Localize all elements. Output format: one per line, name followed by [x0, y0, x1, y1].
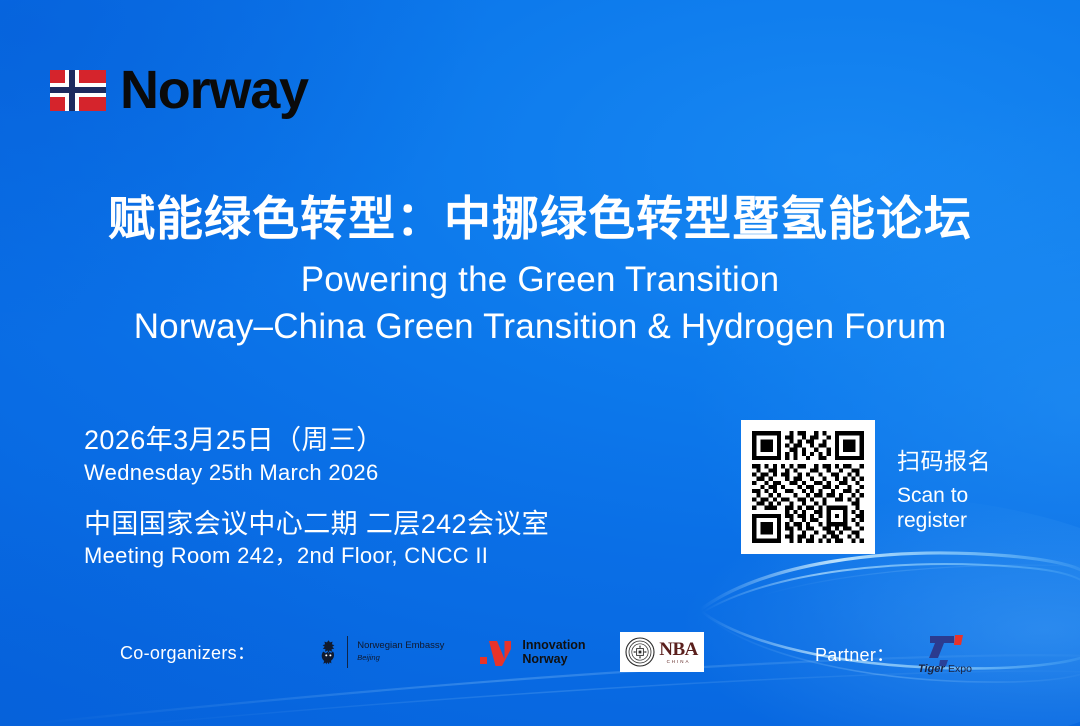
svg-text:Tiger: Tiger	[918, 663, 945, 675]
event-poster: Norway 赋能绿色转型：中挪绿色转型暨氢能论坛 Powering the G…	[0, 0, 1080, 726]
co-organizers-label: Co-organizers：	[120, 639, 255, 665]
title-chinese: 赋能绿色转型：中挪绿色转型暨氢能论坛	[0, 193, 1080, 246]
svg-text:Expo: Expo	[948, 663, 972, 675]
qr-cta-english-line1: Scan to	[897, 483, 991, 509]
innovation-norway-checkmark-icon	[480, 637, 514, 667]
innovation-norway-line2: Norway	[522, 652, 585, 666]
embassy-divider	[347, 636, 348, 668]
partner-section: Partner： Tiger Expo	[815, 632, 984, 676]
qr-cta-english-line2: register	[897, 508, 991, 534]
registration-qr-block[interactable]: 扫码报名 Scan to register	[741, 420, 991, 554]
norway-brand-logo: Norway	[50, 63, 308, 117]
nba-subtitle: CHINA	[659, 660, 698, 665]
qr-cta-text: 扫码报名 Scan to register	[897, 420, 991, 534]
event-venue-english: Meeting Room 242，2nd Floor, CNCC II	[84, 542, 549, 571]
norway-wordmark: Norway	[120, 63, 308, 117]
event-date-chinese: 2026年3月25日（周三）	[84, 424, 549, 457]
logo-nba-china: NBA CHINA	[620, 632, 704, 672]
title-english-line2: Norway–China Green Transition & Hydrogen…	[0, 304, 1080, 350]
title-block: 赋能绿色转型：中挪绿色转型暨氢能论坛 Powering the Green Tr…	[0, 193, 1080, 350]
event-date-english: Wednesday 25th March 2026	[84, 459, 549, 488]
qr-cta-chinese: 扫码报名	[897, 448, 991, 476]
event-details: 2026年3月25日（周三） Wednesday 25th March 2026…	[84, 424, 549, 571]
embassy-city: Beijing	[357, 654, 444, 663]
nba-seal-icon	[625, 637, 655, 667]
norwegian-lion-crest-icon	[319, 639, 338, 665]
partner-label: Partner：	[815, 641, 894, 667]
title-english-line1: Powering the Green Transition	[0, 257, 1080, 303]
tiger-expo-logo-icon: Tiger Expo	[910, 632, 984, 676]
qr-code-icon[interactable]	[741, 420, 875, 554]
logo-innovation-norway: Innovation Norway	[480, 637, 585, 667]
norway-flag-icon	[50, 70, 106, 111]
innovation-norway-line1: Innovation	[522, 638, 585, 652]
nba-wordmark: NBA	[659, 640, 698, 659]
event-venue-chinese: 中国国家会议中心二期 二层242会议室	[84, 508, 549, 541]
co-organizers-section: Co-organizers： Norwegian Embassy Beijing	[120, 632, 704, 672]
logo-norwegian-embassy: Norwegian Embassy Beijing	[319, 636, 444, 668]
embassy-name: Norwegian Embassy	[357, 641, 444, 652]
